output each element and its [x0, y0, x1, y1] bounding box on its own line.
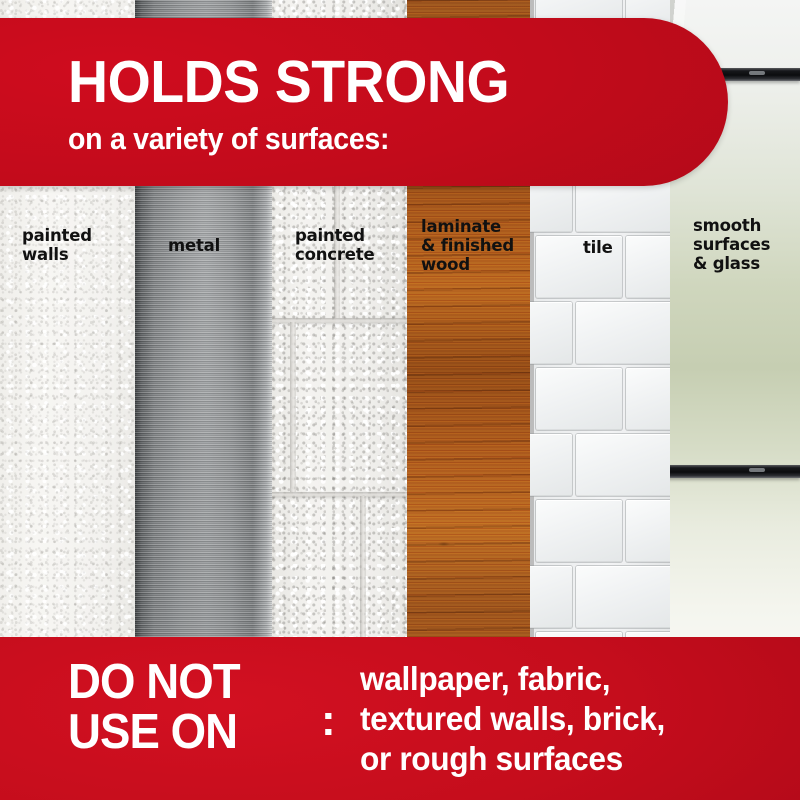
tile-unit — [626, 500, 670, 562]
tile-unit — [626, 368, 670, 430]
tile-unit — [576, 302, 670, 364]
surface-label-smooth-glass: smooth surfaces & glass — [693, 216, 770, 273]
window-frame-highlight — [749, 71, 765, 75]
window-frame-highlight — [749, 468, 765, 472]
bottom-red-banner: DO NOT USE ON : wallpaper, fabric, textu… — [0, 637, 800, 800]
window-frame-bar — [670, 465, 800, 478]
surface-label-painted-concrete: painted concrete — [295, 226, 374, 264]
tile-unit — [576, 434, 670, 496]
do-not-use-colon: : — [321, 699, 336, 743]
do-not-use-on-label: DO NOT USE ON — [68, 657, 240, 757]
tile-unit — [530, 434, 572, 496]
tile-unit — [530, 566, 572, 628]
surface-label-metal: metal — [168, 236, 220, 255]
headline-holds-strong: HOLDS STRONG — [68, 52, 509, 112]
tile-unit — [536, 500, 622, 562]
subheadline-variety-of-surfaces: on a variety of surfaces: — [68, 122, 389, 156]
surface-label-laminate-wood: laminate & finished wood — [421, 217, 514, 274]
concrete-mortar-line — [272, 492, 407, 497]
surface-label-painted-walls: painted walls — [22, 226, 92, 264]
poster-root: painted walls metal painted concrete lam… — [0, 0, 800, 800]
tile-unit — [536, 368, 622, 430]
concrete-mortar-line — [360, 496, 366, 654]
tile-unit — [530, 302, 572, 364]
tile-unit — [626, 236, 670, 298]
tile-unit — [576, 566, 670, 628]
concrete-mortar-line — [290, 322, 296, 492]
do-not-use-items-list: wallpaper, fabric, textured walls, brick… — [360, 659, 665, 779]
surface-label-tile: tile — [583, 238, 613, 257]
top-red-banner: HOLDS STRONG on a variety of surfaces: — [0, 18, 728, 186]
